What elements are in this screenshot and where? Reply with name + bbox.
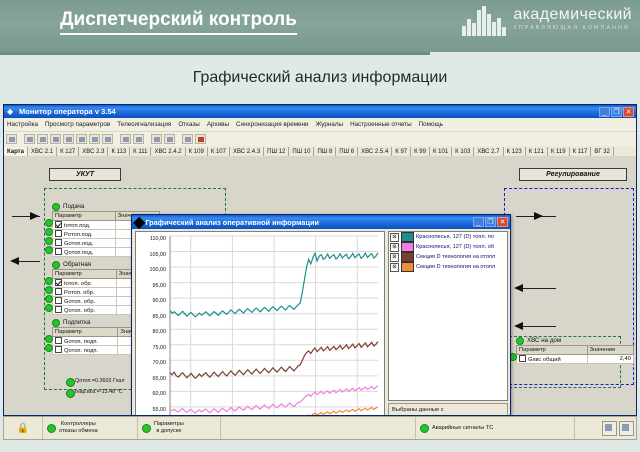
brand-name: академический [513,6,632,23]
close-button[interactable]: ✕ [623,107,634,117]
chart-body: 110,00105,00100,0095,0090,0085,0080,0075… [132,229,510,415]
row-checkbox[interactable] [55,230,62,237]
param-label: Qотоп. обр. [64,308,95,314]
param-label: Gотоп. обр. [64,299,95,305]
param-table-hvs: Параметр Значение Gхвс общий 2,40 [516,345,634,364]
reg-arrow-3 [514,322,523,330]
toolbar-button-6[interactable] [76,134,87,144]
legend-checkbox[interactable]: ⊠ [390,253,399,262]
row-checkbox[interactable] [55,306,62,313]
param-label: Qотоп.под. [64,250,93,256]
status-label-line2: в допуске [154,428,184,435]
reg-arrow-1 [534,212,543,220]
toolbar-button-1[interactable] [6,134,17,144]
restore-button[interactable]: ❐ [611,107,622,117]
row-checkbox[interactable] [55,288,62,295]
operator-monitor-window: ◆ Монитор оператора v 3.54 _ ❐ ✕ Настрой… [3,104,637,416]
group-title: Подача [63,203,84,210]
return-arrow [10,257,19,265]
toolbar-button-2[interactable] [24,134,35,144]
status-led-icon [142,424,151,433]
col-parameter: Параметр [517,346,588,355]
regulation-label: Регулирование [519,168,627,181]
col-value: Значение [587,346,633,355]
legend-item[interactable]: ⊠ Краснолесья, 127 (D) топл. по [389,232,507,242]
col-parameter: Параметр [53,328,118,337]
legend-label: Секция D технология на отопл [416,254,495,260]
lock-icon: 🔒 [17,423,29,434]
row-checkbox[interactable] [55,248,62,255]
toolbar-button-5[interactable] [63,134,74,144]
node-q-label: Qотоп.=0.3602 Гкал [75,378,125,384]
toolbar-button-3[interactable] [37,134,48,144]
node-dot-t-icon [66,389,75,398]
menu-item-zhurnaly[interactable]: Журналы [316,121,344,128]
row-checkbox[interactable] [55,337,62,344]
status-label-alarms: Аварийные сигналы ТС [432,425,493,431]
status-led-icon [516,337,524,345]
chart-window-title: Графический анализ оперативной информаци… [145,218,473,227]
row-checkbox[interactable] [55,297,62,304]
param-cell[interactable]: Qотоп.под. [53,248,116,257]
row-checkbox[interactable] [55,221,62,228]
status-item-parameters[interactable]: Параметры в допуске [138,417,221,439]
panel-icon[interactable] [602,421,617,436]
menu-item-pomosch[interactable]: Помощь [419,121,443,128]
status-led-icon [52,203,60,211]
param-label: Gотоп.под. [64,241,93,247]
app-titlebar: ◆ Монитор оператора v 3.54 _ ❐ ✕ [4,105,636,118]
menu-item-telesignalizaciya[interactable]: Телесигнализация [117,121,171,128]
legend-label: Краснолесья, 127 (D) топл. об [416,244,494,250]
status-led-icon [52,319,60,327]
group-title: Подпитка [63,319,90,326]
menu-item-otchety[interactable]: Настроенные отчеты [350,121,412,128]
row-checkbox[interactable] [55,346,62,353]
status-item-controllers[interactable]: Контроллеры отказы обмена [43,417,138,439]
status-label-line1: Контроллеры [59,421,98,428]
building-bars-icon [462,6,506,36]
minimize-button[interactable]: _ [599,107,610,117]
param-label: tотоп. обр. [64,281,92,287]
col-parameter: Параметр [53,212,116,221]
row-led-icon [45,295,53,303]
row-checkbox[interactable] [55,279,62,286]
toolbar-button-7[interactable] [89,134,100,144]
selection-line-1: Выбраны данные с [392,406,504,414]
status-led-icon [47,424,56,433]
row-led-icon [45,344,53,352]
brand-subtitle: УПРАВЛЯЮЩАЯ КОМПАНИЯ [513,24,632,33]
print-icon[interactable] [619,421,634,436]
param-label: Gхвс общий [528,357,561,363]
app-toolbar[interactable] [4,132,636,146]
row-led-icon [45,277,53,285]
app-icon: ◆ [7,107,16,116]
toolbar-button-13[interactable] [182,134,193,144]
row-led-icon [45,335,53,343]
value-cell: 2,40 [587,355,633,364]
reg-arrow-2 [514,284,523,292]
series-legend[interactable]: ⊠ Краснолесья, 127 (D) топл. по ⊠ Красно… [388,231,508,401]
page-title: Диспетчерский контроль [60,9,297,35]
row-led-icon [45,228,53,236]
node-t-label: tнар.воз.=-13.48 °C [75,389,123,395]
legend-label: Секция D технология на отопл [416,264,495,270]
data-selection-panel: Выбраны данные с 26.11.12 00:00 по 30.11… [388,403,508,415]
toolbar-button-11[interactable] [151,134,162,144]
status-label-line1: Параметры [154,421,184,428]
chart-restore-button[interactable]: ❐ [485,217,496,227]
group-header-podacha: Подача [52,202,160,211]
table-header-row: Параметр Значение [517,346,634,355]
param-group-hvs-na-dom: ХВС на дом Параметр Значение Gхвс общий … [516,336,634,364]
param-cell[interactable]: tотоп. обр. [53,279,117,288]
param-cell[interactable]: Gотоп. обр. [53,297,117,306]
col-parameter: Параметр [53,270,117,279]
app-window-title: Монитор оператора v 3.54 [19,107,599,116]
supply-arrow [30,212,39,220]
page-subtitle: Графический анализ информации [0,69,640,87]
app-window-controls: _ ❐ ✕ [599,107,634,117]
subtitle-band: Графический анализ информации [0,55,640,103]
toolbar-button-10[interactable] [133,134,144,144]
row-led-icon [45,237,53,245]
status-label-line2: отказы обмена [59,428,98,435]
legend-color-swatch [401,252,414,262]
param-cell[interactable]: tотоп.под. [53,221,116,230]
param-cell[interactable]: Gхвс общий [517,355,588,364]
legend-item[interactable]: ⊠ Секция D технология на отопл [389,252,507,262]
ukut-label: УКУТ [49,168,121,181]
toolbar-button-4[interactable] [50,134,61,144]
mnemonic-workspace: УКУТ Регулирование Подача Параметр Значе… [4,156,636,415]
row-checkbox[interactable] [55,239,62,246]
param-cell[interactable]: Qотоп. обр. [53,306,117,315]
legend-item[interactable]: ⊠ Секция D технология на отопл [389,262,507,272]
legend-checkbox[interactable]: ⊠ [390,233,399,242]
row-led-icon [45,246,53,254]
menu-item-nastroika[interactable]: Настройка [7,121,38,128]
toolbar-button-stop[interactable] [195,134,206,144]
menu-item-arhivy[interactable]: Архивы [207,121,229,128]
legend-checkbox[interactable]: ⊠ [390,243,399,252]
param-label: Pотоп.под. [64,232,93,238]
param-label: Pотоп. обр. [64,290,95,296]
legend-color-swatch [401,262,414,272]
param-cell[interactable]: Pотоп. обр. [53,288,117,297]
legend-color-swatch [401,232,414,242]
status-led-icon [52,261,60,269]
toolbar-button-12[interactable] [164,134,175,144]
page-header: Диспетчерский контроль академический УПР… [0,0,640,52]
node-dot-q-icon [66,378,75,387]
chart-window-controls: _ ❐ ✕ [473,217,508,227]
row-led-icon [45,304,53,312]
legend-color-swatch [401,242,414,252]
chart-minimize-button[interactable]: _ [473,217,484,227]
param-label: Qотоп. подп. [64,348,98,354]
lock-status[interactable]: 🔒 [4,417,43,439]
status-led-icon [420,424,429,433]
param-label: tотоп.под. [64,223,91,229]
legend-label: Краснолесья, 127 (D) топл. по [416,234,494,240]
legend-checkbox[interactable]: ⊠ [390,263,399,272]
legend-item[interactable]: ⊠ Краснолесья, 127 (D) топл. об [389,242,507,252]
selection-line-2: 26.11.12 00:00 по 30.11.12 00:00 [392,414,504,415]
plot-area[interactable]: 110,00105,00100,0095,0090,0085,0080,0075… [135,231,385,415]
status-item-alarms[interactable]: Аварийные сигналы ТС [416,417,575,439]
group-title: ХВС на дом [527,337,561,344]
group-title: Обратная [63,261,91,268]
group-header-hvs: ХВС на дом [516,336,634,345]
row-led-icon [45,219,53,227]
menu-item-otkazy[interactable]: Отказы [178,121,200,128]
footer-band [0,440,640,452]
toolbar-button-9[interactable] [120,134,131,144]
row-led-icon [45,286,53,294]
status-bar: 🔒 Контроллеры отказы обмена Параметры в … [3,416,637,440]
plot-svg [136,232,384,415]
param-label: Gотоп. подп. [64,339,98,345]
table-row[interactable]: Gхвс общий 2,40 [517,355,634,364]
app-menubar[interactable]: Настройка Просмотр параметров Телесигнал… [4,118,636,132]
chart-close-button[interactable]: ✕ [497,217,508,227]
param-cell[interactable]: Gотоп.под. [53,239,116,248]
chart-analysis-window: ◆ Графический анализ оперативной информа… [131,214,511,415]
status-filler [221,417,416,439]
menu-item-prosmotr-parametrov[interactable]: Просмотр параметров [45,121,110,128]
chart-titlebar: ◆ Графический анализ оперативной информа… [132,215,510,229]
toolbar-button-8[interactable] [102,134,113,144]
brand-logo: академический УПРАВЛЯЮЩАЯ КОМПАНИЯ [462,6,632,36]
param-cell[interactable]: Gотоп. подп. [53,337,118,346]
param-cell[interactable]: Pотоп.под. [53,230,116,239]
menu-item-sinhronizaciya[interactable]: Синхронизация времени [236,121,309,128]
param-cell[interactable]: Qотоп. подп. [53,346,118,355]
row-checkbox[interactable] [519,355,526,362]
